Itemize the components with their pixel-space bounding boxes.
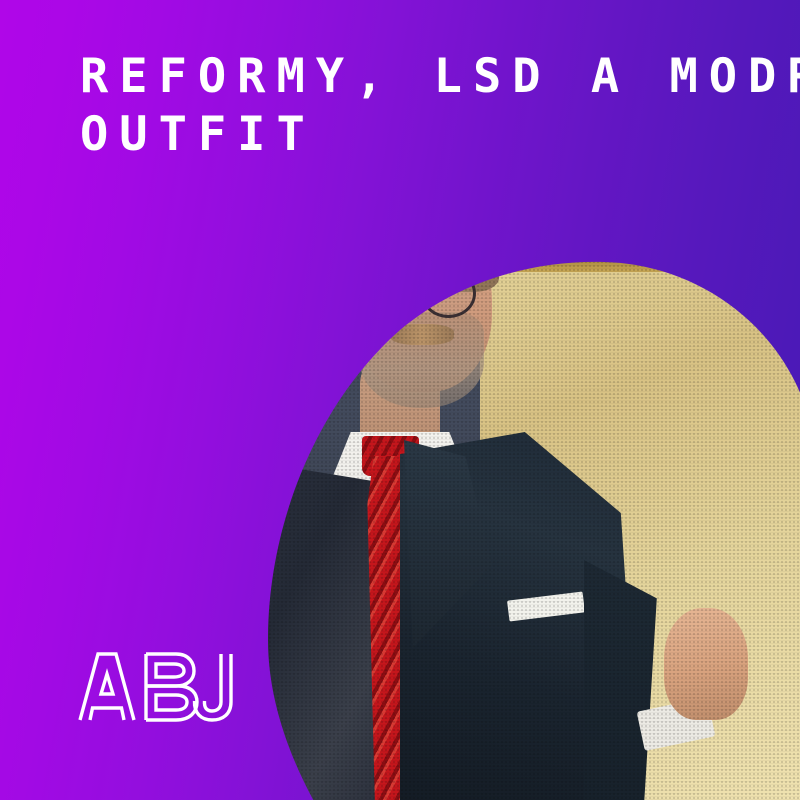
- title-line-2: OUTFIT: [80, 106, 760, 164]
- poster-title: REFORMY, LSD A MODRÝ OUTFIT: [80, 48, 760, 164]
- abj-logo-icon: [76, 650, 236, 722]
- backdrop-word: KO: [200, 376, 294, 444]
- eyeglasses-left-lens: [360, 269, 416, 318]
- social-poster: VLÁDA ČESKÉ REPUBLIKY KO OR ÝE: [0, 0, 800, 800]
- title-line-1: REFORMY, LSD A MODRÝ: [80, 48, 760, 106]
- abj-logo[interactable]: [76, 650, 236, 722]
- subject-hair: [347, 204, 499, 292]
- eyeglasses-bridge: [409, 285, 423, 288]
